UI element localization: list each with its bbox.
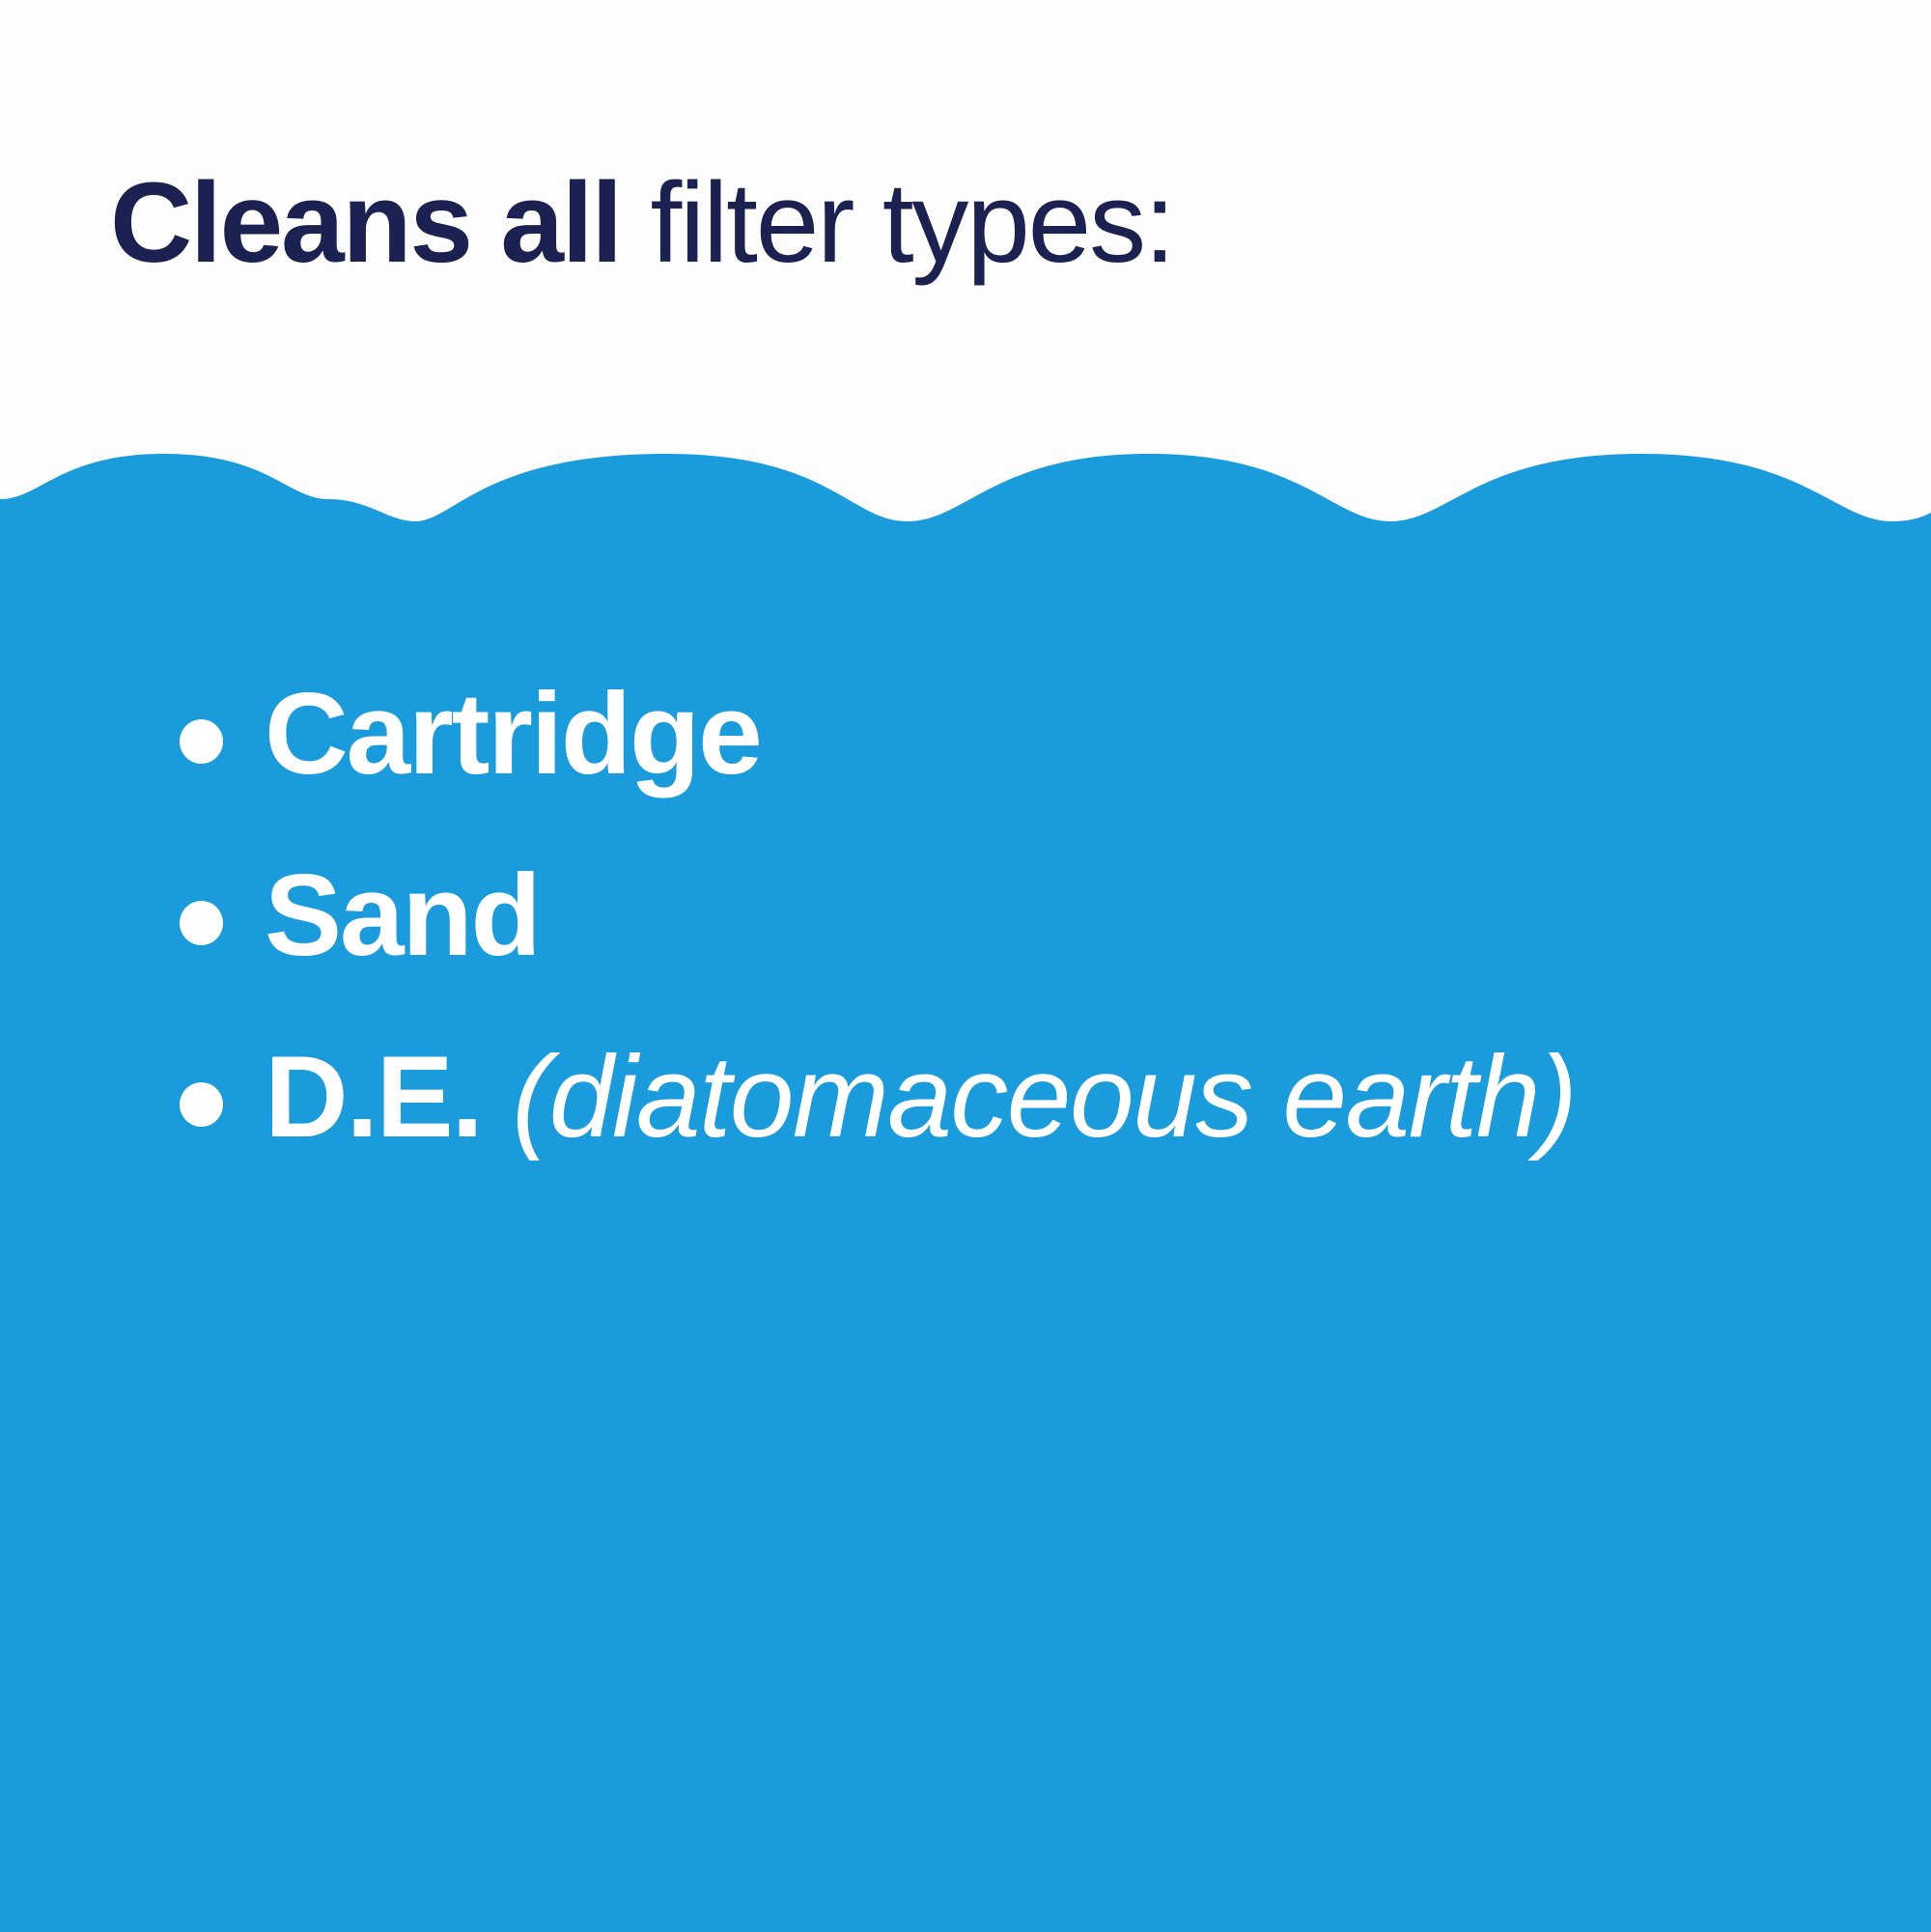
list-item: Sand: [180, 849, 540, 994]
header-band: Cleans all filter types:: [0, 0, 1931, 454]
list-item: Cartridge: [180, 667, 761, 813]
list-item-text: D.E.: [265, 1032, 482, 1162]
page-title-emphasis: Cleans all: [110, 159, 621, 287]
page-title: Cleans all filter types:: [110, 156, 1173, 291]
list-item-label: D.E. (diatomaceous earth): [265, 1030, 1576, 1176]
bullet-dot-icon: [180, 1082, 223, 1127]
water-wave-icon: [0, 439, 1931, 1932]
bullet-dot-icon: [180, 719, 223, 764]
list-item-text: Sand: [265, 851, 540, 980]
bullet-dot-icon: [180, 901, 223, 945]
list-item-text: Cartridge: [265, 669, 761, 798]
water-section: [0, 439, 1931, 1932]
list-item-note: (diatomaceous earth): [482, 1032, 1577, 1162]
page-title-rest: filter types:: [621, 159, 1174, 287]
list-item-label: Sand: [265, 849, 540, 994]
promo-card: Cleans all filter types: Cartridge Sand …: [0, 0, 1931, 1932]
list-item: D.E. (diatomaceous earth): [180, 1030, 1576, 1176]
list-item-label: Cartridge: [265, 667, 761, 813]
